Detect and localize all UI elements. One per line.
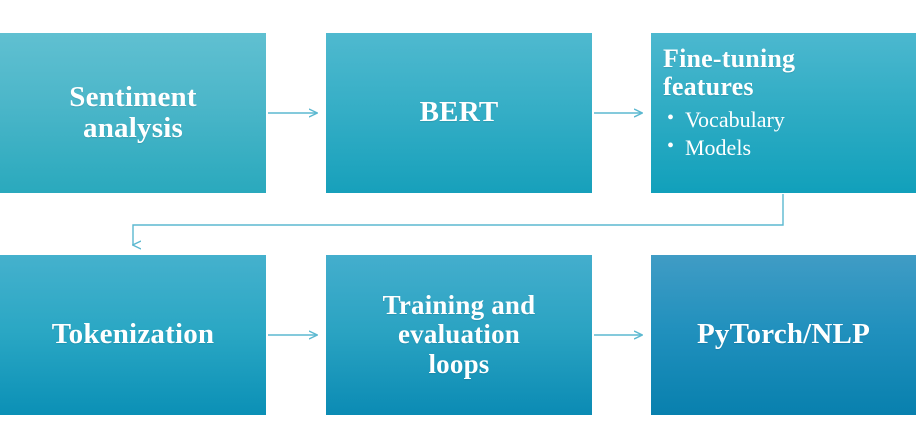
connector-fine-tuning-to-tokenization [133,194,783,245]
list-item-label: Vocabulary [685,107,785,132]
title-line: Training and [326,291,592,320]
process-box-title: PyTorch/NLP [651,319,916,350]
title-line: evaluation [326,320,592,349]
title-line: PyTorch/NLP [651,319,916,350]
process-box-sentiment-analysis[interactable]: Sentiment analysis [0,33,266,193]
process-box-title: BERT [326,97,592,128]
process-box-title: Sentiment analysis [0,82,266,145]
title-line: loops [326,350,592,379]
list-item: • Vocabulary [663,106,916,134]
bullet-point-icon: • [667,134,674,160]
title-line: analysis [0,113,266,144]
list-item-label: Models [685,135,751,160]
process-box-tokenization[interactable]: Tokenization [0,255,266,415]
process-box-bert[interactable]: BERT [326,33,592,193]
title-line: Sentiment [0,82,266,113]
process-box-fine-tuning-features[interactable]: Fine-tuning features • Vocabulary • Mode… [651,33,916,193]
process-box-title: Fine-tuning features [663,45,916,101]
process-box-title: Training and evaluation loops [326,291,592,378]
title-line: features [663,73,916,101]
title-line: BERT [326,97,592,128]
process-box-pytorch-nlp[interactable]: PyTorch/NLP [651,255,916,415]
title-line: Tokenization [0,319,266,350]
feature-bullet-list: • Vocabulary • Models [663,106,916,162]
bullet-point-icon: • [667,106,674,132]
process-box-title: Tokenization [0,319,266,350]
list-item: • Models [663,134,916,162]
title-line: Fine-tuning [663,45,916,73]
process-box-training-and-evaluation-loops[interactable]: Training and evaluation loops [326,255,592,415]
flowchart-canvas: Sentiment analysis BERT Fine-tuning feat… [0,0,916,448]
